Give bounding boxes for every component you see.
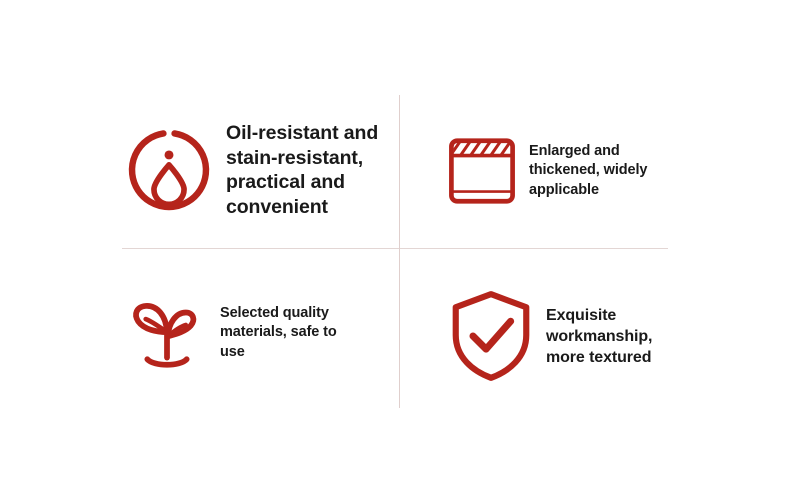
feature-item-oil-stain-resistant: Oil-resistant and stain-resistant, pract… [126, 118, 394, 222]
feature-label-quality-materials: Selected quality materials, safe to use [220, 304, 354, 363]
feature-item-enlarged-thickened: Enlarged and thickened, widely applicabl… [446, 126, 676, 216]
feature-label-enlarged-thickened: Enlarged and thickened, widely applicabl… [529, 142, 676, 201]
feature-item-quality-materials: Selected quality materials, safe to use [126, 288, 366, 378]
sprout-leaf-icon [126, 292, 208, 374]
oil-drop-circle-icon [126, 127, 212, 213]
divider-vertical [399, 95, 400, 408]
feature-grid-canvas: Oil-resistant and stain-resistant, pract… [0, 0, 790, 501]
feature-label-exquisite-workmanship: Exquisite workmanship, more textured [546, 305, 678, 368]
divider-horizontal [122, 248, 668, 249]
feature-label-oil-stain-resistant: Oil-resistant and stain-resistant, pract… [226, 121, 394, 219]
thick-board-icon [446, 135, 518, 207]
shield-check-icon [450, 288, 532, 384]
feature-item-exquisite-workmanship: Exquisite workmanship, more textured [450, 282, 684, 390]
